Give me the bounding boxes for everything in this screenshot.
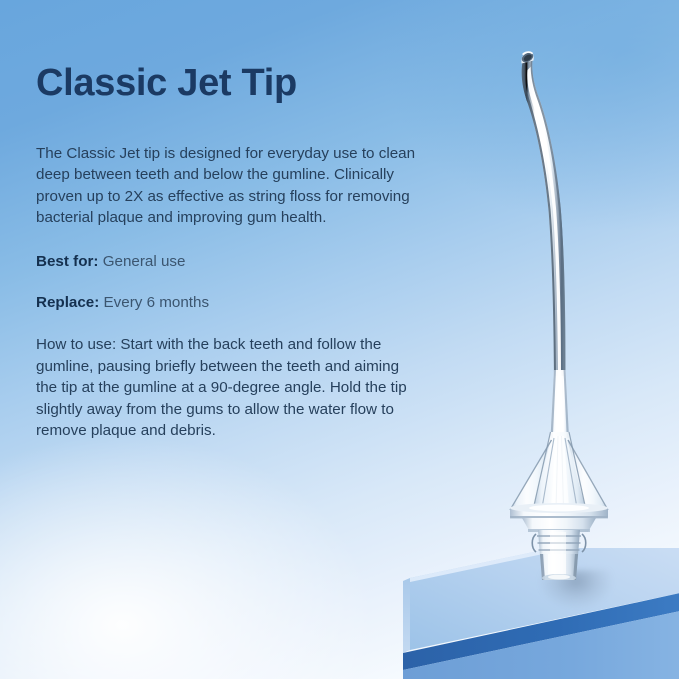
page-title: Classic Jet Tip [36, 62, 416, 105]
spec-replace: Replace: Every 6 months [36, 292, 416, 314]
spec-replace-label: Replace: [36, 294, 99, 311]
spec-best-for-value: General use [103, 253, 186, 270]
how-to-use-text: How to use: Start with the back teeth an… [36, 334, 416, 442]
nozzle-bottom-post [540, 554, 578, 580]
nozzle-collar [510, 503, 608, 532]
product-image-card: Classic Jet Tip The Classic Jet tip is d… [0, 0, 679, 679]
platform-left-edge [403, 578, 410, 653]
product-description: The Classic Jet tip is designed for ever… [36, 143, 416, 229]
text-column: Classic Jet Tip The Classic Jet tip is d… [36, 62, 416, 442]
product-photo-classic-jet-tip [470, 40, 640, 580]
spec-best-for: Best for: General use [36, 251, 416, 273]
nozzle-ribbed-stem [532, 530, 586, 556]
spec-replace-value: Every 6 months [104, 294, 210, 311]
nozzle-flared-skirt [510, 432, 608, 510]
spec-best-for-label: Best for: [36, 253, 98, 270]
